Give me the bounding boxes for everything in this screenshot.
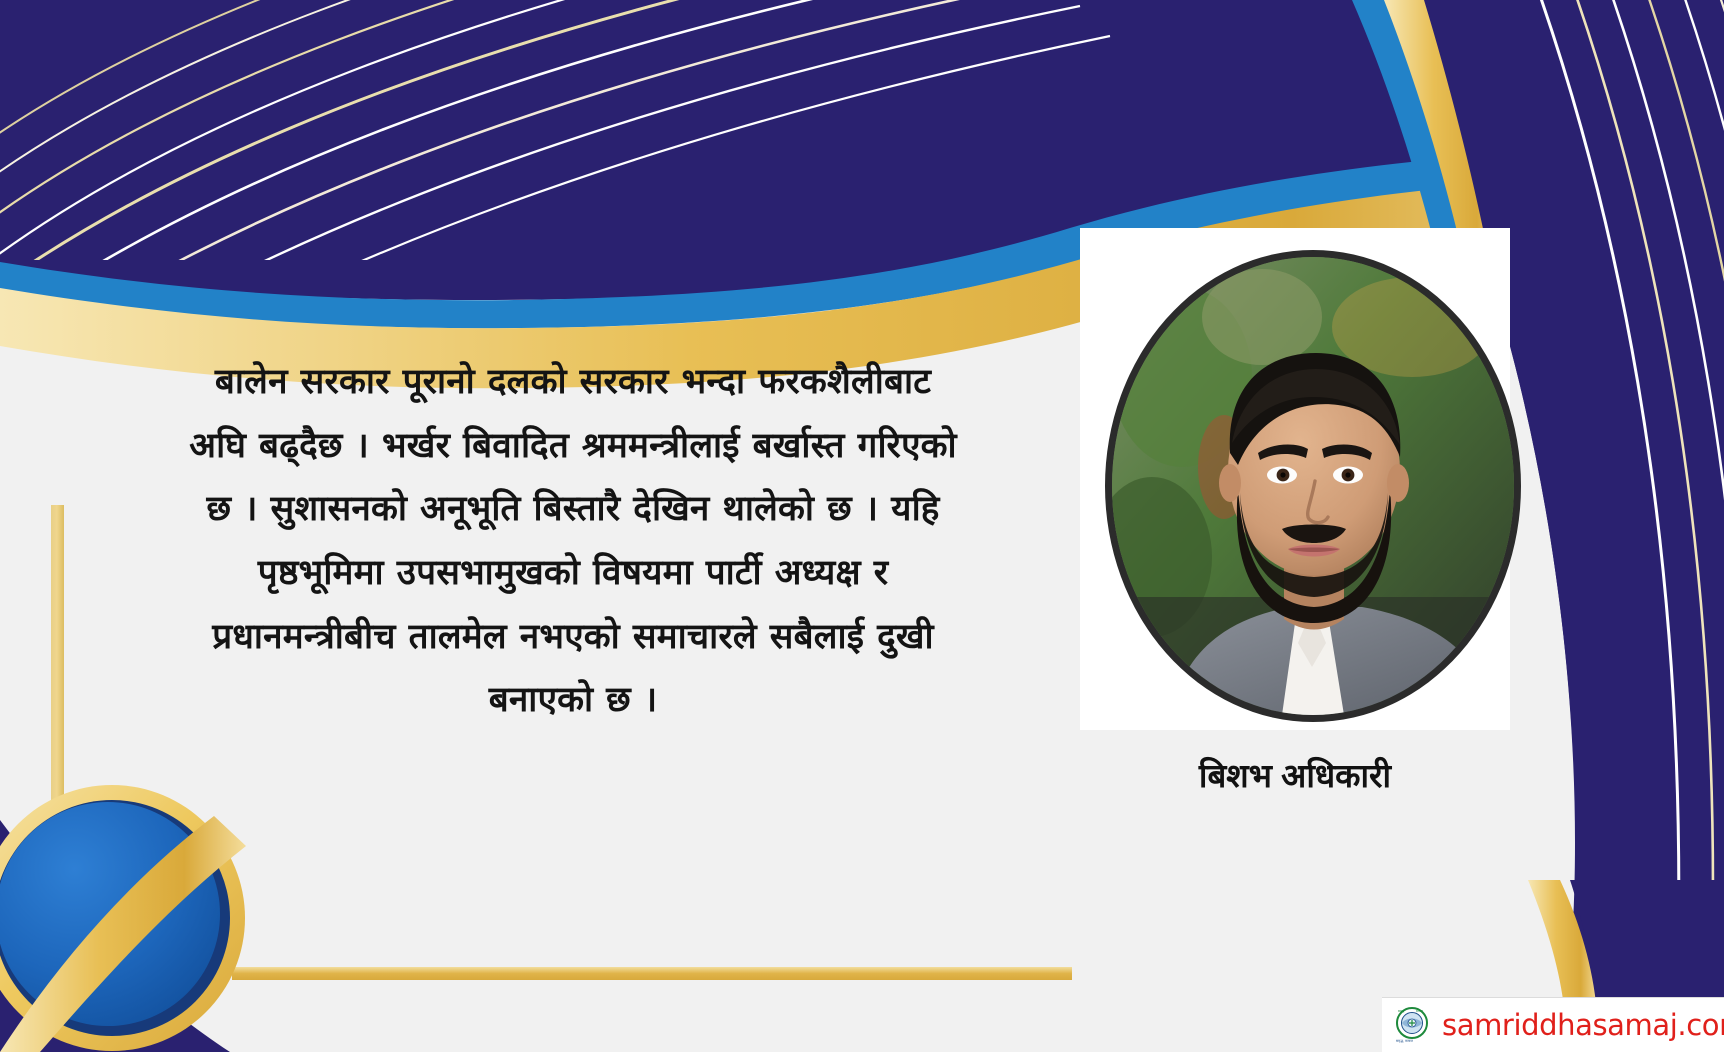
site-logo[interactable]: समृद्ध समाज समृद्ध, समाज samriddhasamaj.…	[1382, 997, 1724, 1052]
portrait-photo	[1105, 250, 1521, 722]
site-logo-text: samriddhasamaj.com	[1442, 1008, 1724, 1042]
samriddha-samaj-emblem-icon: समृद्ध समाज समृद्ध, समाज	[1390, 1005, 1434, 1045]
svg-text:समाज: समाज	[1416, 1009, 1424, 1013]
portrait-card	[1080, 228, 1510, 730]
speaker-name: बिशभ अधिकारी	[1080, 752, 1510, 797]
quote-line: प्रधानमन्त्रीबीच तालमेल नभएको समाचारले स…	[78, 605, 1068, 669]
quote-block: बालेन सरकार पूरानो दलको सरकार भन्दा फरकश…	[78, 350, 1068, 732]
content-area: बालेन सरकार पूरानो दलको सरकार भन्दा फरकश…	[0, 232, 1724, 1052]
quote-line: बालेन सरकार पूरानो दलको सरकार भन्दा फरकश…	[78, 350, 1068, 414]
svg-text:समृद्ध: समृद्ध	[1398, 1009, 1405, 1013]
svg-text:समृद्ध, समाज: समृद्ध, समाज	[1396, 1039, 1413, 1043]
quote-line: छ । सुशासनको अनूभूति बिस्तारै देखिन थाले…	[78, 477, 1068, 541]
quote-line: अघि बढ्दैछ । भर्खर बिवादित श्रममन्त्रीला…	[78, 414, 1068, 478]
quote-line: पृष्ठभूमिमा उपसभामुखको विषयमा पार्टी अध्…	[78, 541, 1068, 605]
quote-line: बनाएको छ ।	[78, 668, 1068, 732]
poster-canvas: बालेन सरकार पूरानो दलको सरकार भन्दा फरकश…	[0, 0, 1724, 1052]
portrait-illustration	[1112, 257, 1514, 715]
